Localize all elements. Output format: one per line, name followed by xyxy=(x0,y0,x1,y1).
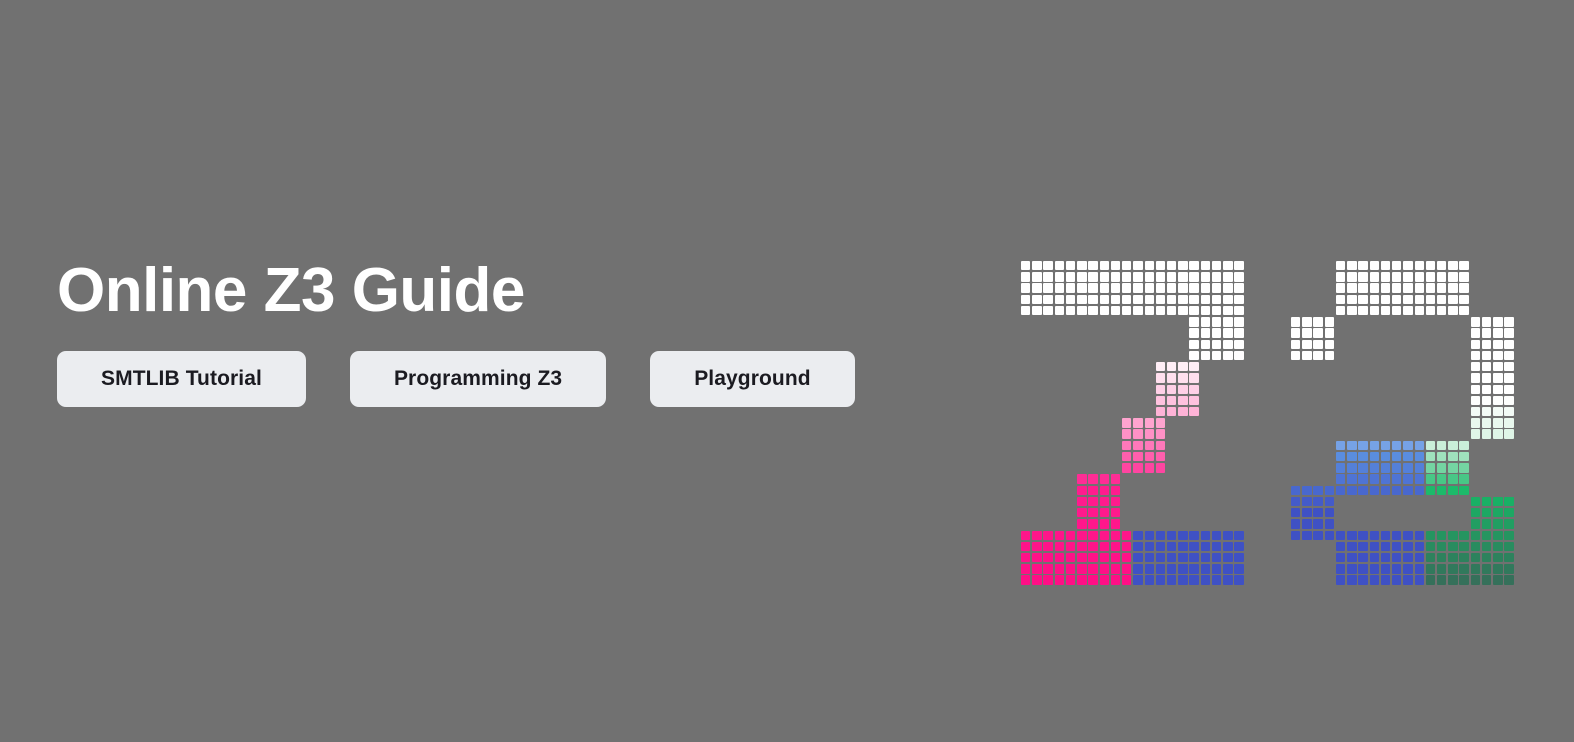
logo-pixel xyxy=(1234,328,1243,337)
logo-pixel xyxy=(1302,531,1311,540)
logo-pixel xyxy=(1504,553,1513,562)
logo-pixel xyxy=(1100,531,1109,540)
logo-pixel xyxy=(1325,317,1334,326)
logo-pixel xyxy=(1347,283,1356,292)
logo-pixel xyxy=(1212,283,1221,292)
logo-pixel xyxy=(1189,317,1198,326)
logo-pixel xyxy=(1234,553,1243,562)
logo-pixel xyxy=(1201,295,1210,304)
logo-pixel xyxy=(1325,531,1334,540)
logo-pixel xyxy=(1347,486,1356,495)
hero-section: Online Z3 Guide SMTLIB TutorialProgrammi… xyxy=(0,0,1574,742)
logo-pixel xyxy=(1178,575,1187,584)
logo-pixel xyxy=(1043,564,1052,573)
logo-pixel xyxy=(1021,295,1030,304)
logo-pixel xyxy=(1392,452,1401,461)
logo-pixel xyxy=(1133,272,1142,281)
logo-pixel xyxy=(1133,564,1142,573)
logo-pixel xyxy=(1426,306,1435,315)
logo-pixel xyxy=(1100,261,1109,270)
programming-z3-button[interactable]: Programming Z3 xyxy=(350,351,606,407)
logo-pixel xyxy=(1234,283,1243,292)
logo-pixel xyxy=(1471,340,1480,349)
logo-pixel xyxy=(1482,317,1491,326)
logo-pixel xyxy=(1111,519,1120,528)
logo-pixel xyxy=(1493,519,1502,528)
logo-pixel xyxy=(1504,519,1513,528)
logo-pixel xyxy=(1178,396,1187,405)
logo-pixel xyxy=(1021,261,1030,270)
logo-pixel xyxy=(1100,497,1109,506)
logo-pixel xyxy=(1122,261,1131,270)
logo-pixel xyxy=(1156,261,1165,270)
logo-pixel xyxy=(1471,564,1480,573)
logo-pixel xyxy=(1167,385,1176,394)
logo-pixel xyxy=(1167,261,1176,270)
logo-pixel xyxy=(1234,564,1243,573)
logo-pixel xyxy=(1291,531,1300,540)
logo-pixel xyxy=(1066,542,1075,551)
logo-pixel xyxy=(1088,272,1097,281)
logo-pixel xyxy=(1223,295,1232,304)
logo-pixel xyxy=(1313,351,1322,360)
logo-pixel xyxy=(1156,385,1165,394)
logo-pixel xyxy=(1189,564,1198,573)
logo-pixel xyxy=(1291,340,1300,349)
logo-pixel xyxy=(1223,553,1232,562)
logo-pixel xyxy=(1122,564,1131,573)
logo-pixel xyxy=(1178,385,1187,394)
logo-pixel xyxy=(1403,272,1412,281)
logo-pixel xyxy=(1111,497,1120,506)
logo-pixel xyxy=(1358,531,1367,540)
logo-pixel xyxy=(1055,306,1064,315)
logo-pixel xyxy=(1100,306,1109,315)
logo-pixel xyxy=(1482,418,1491,427)
logo-pixel xyxy=(1336,531,1345,540)
logo-pixel xyxy=(1055,272,1064,281)
logo-pixel xyxy=(1066,553,1075,562)
logo-pixel xyxy=(1156,272,1165,281)
logo-pixel xyxy=(1100,486,1109,495)
logo-pixel xyxy=(1381,486,1390,495)
logo-pixel xyxy=(1347,306,1356,315)
logo-pixel xyxy=(1156,553,1165,562)
logo-pixel xyxy=(1426,474,1435,483)
logo-pixel xyxy=(1066,531,1075,540)
logo-pixel xyxy=(1111,283,1120,292)
logo-pixel xyxy=(1370,272,1379,281)
logo-pixel xyxy=(1471,497,1480,506)
logo-pixel xyxy=(1370,283,1379,292)
logo-pixel xyxy=(1358,575,1367,584)
logo-pixel xyxy=(1302,340,1311,349)
logo-pixel xyxy=(1437,542,1446,551)
logo-pixel xyxy=(1493,418,1502,427)
logo-pixel xyxy=(1145,564,1154,573)
logo-pixel xyxy=(1504,575,1513,584)
logo-pixel xyxy=(1426,564,1435,573)
logo-pixel xyxy=(1504,564,1513,573)
logo-pixel xyxy=(1403,474,1412,483)
logo-pixel xyxy=(1133,418,1142,427)
logo-pixel xyxy=(1471,575,1480,584)
logo-pixel xyxy=(1201,317,1210,326)
logo-pixel xyxy=(1471,418,1480,427)
logo-pixel xyxy=(1471,373,1480,382)
logo-pixel xyxy=(1426,542,1435,551)
logo-pixel xyxy=(1167,362,1176,371)
logo-pixel xyxy=(1212,531,1221,540)
logo-pixel xyxy=(1403,486,1412,495)
logo-pixel xyxy=(1437,575,1446,584)
logo-pixel xyxy=(1167,306,1176,315)
logo-pixel xyxy=(1437,452,1446,461)
logo-pixel xyxy=(1381,531,1390,540)
logo-pixel xyxy=(1133,295,1142,304)
logo-pixel xyxy=(1111,553,1120,562)
logo-pixel xyxy=(1122,418,1131,427)
logo-pixel xyxy=(1077,486,1086,495)
logo-pixel xyxy=(1111,486,1120,495)
logo-pixel xyxy=(1415,452,1424,461)
logo-pixel xyxy=(1145,272,1154,281)
logo-pixel xyxy=(1088,295,1097,304)
logo-pixel xyxy=(1415,272,1424,281)
logo-pixel xyxy=(1493,508,1502,517)
logo-pixel xyxy=(1212,575,1221,584)
logo-pixel xyxy=(1437,295,1446,304)
logo-pixel xyxy=(1370,486,1379,495)
logo-pixel xyxy=(1370,452,1379,461)
logo-pixel xyxy=(1212,272,1221,281)
logo-pixel xyxy=(1088,306,1097,315)
logo-pixel xyxy=(1313,497,1322,506)
logo-pixel xyxy=(1167,575,1176,584)
logo-pixel xyxy=(1504,362,1513,371)
logo-pixel xyxy=(1459,441,1468,450)
logo-pixel xyxy=(1448,553,1457,562)
logo-pixel xyxy=(1201,261,1210,270)
logo-pixel xyxy=(1055,295,1064,304)
logo-pixel xyxy=(1381,261,1390,270)
logo-pixel xyxy=(1336,564,1345,573)
logo-pixel xyxy=(1178,553,1187,562)
logo-pixel xyxy=(1504,328,1513,337)
logo-pixel xyxy=(1381,306,1390,315)
logo-pixel xyxy=(1145,452,1154,461)
logo-pixel xyxy=(1043,283,1052,292)
logo-pixel xyxy=(1370,564,1379,573)
logo-pixel xyxy=(1066,575,1075,584)
logo-pixel xyxy=(1111,575,1120,584)
logo-pixel xyxy=(1336,542,1345,551)
logo-pixel xyxy=(1448,575,1457,584)
logo-pixel xyxy=(1189,340,1198,349)
logo-pixel xyxy=(1077,306,1086,315)
logo-pixel xyxy=(1392,272,1401,281)
logo-pixel xyxy=(1111,564,1120,573)
logo-pixel xyxy=(1201,283,1210,292)
logo-pixel xyxy=(1358,306,1367,315)
logo-pixel xyxy=(1100,542,1109,551)
logo-pixel xyxy=(1448,531,1457,540)
logo-pixel xyxy=(1223,340,1232,349)
logo-pixel xyxy=(1504,340,1513,349)
logo-pixel xyxy=(1043,261,1052,270)
logo-pixel xyxy=(1336,295,1345,304)
logo-pixel xyxy=(1459,261,1468,270)
logo-pixel xyxy=(1381,272,1390,281)
logo-pixel xyxy=(1223,531,1232,540)
logo-pixel xyxy=(1122,306,1131,315)
logo-pixel xyxy=(1077,508,1086,517)
logo-pixel xyxy=(1066,261,1075,270)
logo-pixel xyxy=(1212,564,1221,573)
logo-pixel xyxy=(1459,306,1468,315)
logo-pixel xyxy=(1088,474,1097,483)
logo-pixel xyxy=(1325,340,1334,349)
logo-pixel xyxy=(1415,564,1424,573)
logo-pixel xyxy=(1370,441,1379,450)
logo-pixel xyxy=(1482,362,1491,371)
logo-pixel xyxy=(1145,463,1154,472)
logo-pixel xyxy=(1347,564,1356,573)
logo-pixel xyxy=(1100,564,1109,573)
logo-pixel xyxy=(1381,452,1390,461)
logo-pixel xyxy=(1088,261,1097,270)
logo-pixel xyxy=(1459,283,1468,292)
logo-pixel xyxy=(1426,441,1435,450)
logo-pixel xyxy=(1403,283,1412,292)
logo-pixel xyxy=(1482,575,1491,584)
logo-pixel xyxy=(1133,463,1142,472)
logo-pixel xyxy=(1189,295,1198,304)
logo-pixel xyxy=(1122,553,1131,562)
logo-pixel xyxy=(1122,441,1131,450)
logo-pixel xyxy=(1145,531,1154,540)
logo-pixel xyxy=(1358,486,1367,495)
logo-pixel xyxy=(1032,306,1041,315)
logo-pixel xyxy=(1437,283,1446,292)
logo-pixel xyxy=(1133,452,1142,461)
logo-pixel xyxy=(1055,564,1064,573)
logo-pixel xyxy=(1088,553,1097,562)
logo-pixel xyxy=(1291,351,1300,360)
logo-pixel xyxy=(1156,564,1165,573)
hero-actions: SMTLIB TutorialProgramming Z3Playground xyxy=(57,351,957,407)
logo-pixel xyxy=(1381,441,1390,450)
logo-pixel xyxy=(1189,373,1198,382)
logo-pixel xyxy=(1437,272,1446,281)
logo-pixel xyxy=(1415,474,1424,483)
logo-pixel xyxy=(1392,283,1401,292)
logo-pixel xyxy=(1347,463,1356,472)
logo-pixel xyxy=(1077,283,1086,292)
logo-pixel xyxy=(1032,575,1041,584)
logo-pixel xyxy=(1504,317,1513,326)
logo-pixel xyxy=(1100,575,1109,584)
logo-pixel xyxy=(1358,542,1367,551)
logo-pixel xyxy=(1482,340,1491,349)
logo-pixel xyxy=(1448,441,1457,450)
logo-pixel xyxy=(1043,553,1052,562)
logo-pixel xyxy=(1021,564,1030,573)
logo-pixel xyxy=(1504,351,1513,360)
logo-pixel xyxy=(1482,564,1491,573)
logo-pixel xyxy=(1426,283,1435,292)
logo-pixel xyxy=(1358,441,1367,450)
logo-pixel xyxy=(1201,564,1210,573)
logo-pixel xyxy=(1471,542,1480,551)
logo-pixel xyxy=(1415,553,1424,562)
logo-pixel xyxy=(1347,553,1356,562)
logo-pixel xyxy=(1133,553,1142,562)
logo-pixel xyxy=(1088,519,1097,528)
logo-pixel xyxy=(1167,564,1176,573)
logo-pixel xyxy=(1437,564,1446,573)
logo-pixel xyxy=(1167,396,1176,405)
logo-pixel xyxy=(1122,452,1131,461)
logo-pixel xyxy=(1066,564,1075,573)
logo-pixel xyxy=(1077,272,1086,281)
logo-pixel xyxy=(1482,497,1491,506)
logo-pixel xyxy=(1471,351,1480,360)
logo-pixel xyxy=(1201,328,1210,337)
logo-pixel xyxy=(1133,306,1142,315)
logo-pixel xyxy=(1021,575,1030,584)
logo-pixel xyxy=(1471,385,1480,394)
logo-pixel xyxy=(1077,531,1086,540)
logo-pixel xyxy=(1234,317,1243,326)
logo-pixel xyxy=(1302,519,1311,528)
logo-pixel xyxy=(1358,553,1367,562)
logo-pixel xyxy=(1493,407,1502,416)
logo-pixel xyxy=(1043,272,1052,281)
logo-pixel xyxy=(1403,261,1412,270)
logo-pixel xyxy=(1212,261,1221,270)
logo-pixel xyxy=(1347,542,1356,551)
logo-pixel xyxy=(1178,373,1187,382)
logo-pixel xyxy=(1145,418,1154,427)
logo-pixel xyxy=(1426,452,1435,461)
logo-pixel xyxy=(1403,542,1412,551)
logo-pixel xyxy=(1504,396,1513,405)
logo-pixel xyxy=(1437,486,1446,495)
logo-pixel xyxy=(1302,497,1311,506)
logo-pixel xyxy=(1336,452,1345,461)
logo-pixel xyxy=(1482,542,1491,551)
logo-pixel xyxy=(1032,542,1041,551)
logo-pixel xyxy=(1021,531,1030,540)
logo-pixel xyxy=(1403,463,1412,472)
logo-pixel xyxy=(1347,441,1356,450)
logo-pixel xyxy=(1459,575,1468,584)
logo-pixel xyxy=(1392,564,1401,573)
logo-pixel xyxy=(1381,463,1390,472)
logo-pixel xyxy=(1313,519,1322,528)
logo-pixel xyxy=(1437,463,1446,472)
logo-pixel xyxy=(1504,385,1513,394)
logo-pixel xyxy=(1189,362,1198,371)
logo-pixel xyxy=(1021,272,1030,281)
logo-pixel xyxy=(1178,542,1187,551)
logo-pixel xyxy=(1156,418,1165,427)
logo-pixel xyxy=(1043,542,1052,551)
logo-pixel xyxy=(1325,519,1334,528)
logo-pixel xyxy=(1189,306,1198,315)
logo-pixel xyxy=(1403,553,1412,562)
logo-pixel xyxy=(1358,272,1367,281)
logo-pixel xyxy=(1504,508,1513,517)
logo-pixel xyxy=(1234,340,1243,349)
logo-pixel xyxy=(1223,306,1232,315)
logo-pixel xyxy=(1459,486,1468,495)
logo-pixel xyxy=(1223,328,1232,337)
logo-pixel xyxy=(1381,575,1390,584)
logo-pixel xyxy=(1145,575,1154,584)
logo-pixel xyxy=(1111,295,1120,304)
logo-pixel xyxy=(1482,519,1491,528)
logo-pixel xyxy=(1234,531,1243,540)
logo-pixel xyxy=(1448,474,1457,483)
logo-pixel xyxy=(1032,283,1041,292)
logo-pixel xyxy=(1234,261,1243,270)
logo-pixel xyxy=(1347,474,1356,483)
logo-pixel xyxy=(1021,553,1030,562)
logo-pixel xyxy=(1189,351,1198,360)
logo-pixel xyxy=(1212,328,1221,337)
logo-pixel xyxy=(1189,542,1198,551)
logo-pixel xyxy=(1145,295,1154,304)
logo-pixel xyxy=(1471,328,1480,337)
logo-pixel xyxy=(1111,531,1120,540)
logo-pixel xyxy=(1201,340,1210,349)
logo-pixel xyxy=(1392,553,1401,562)
logo-pixel xyxy=(1122,542,1131,551)
logo-pixel xyxy=(1392,295,1401,304)
logo-pixel xyxy=(1122,429,1131,438)
logo-pixel xyxy=(1336,283,1345,292)
logo-pixel xyxy=(1392,542,1401,551)
logo-pixel xyxy=(1381,553,1390,562)
logo-pixel xyxy=(1133,441,1142,450)
logo-pixel xyxy=(1111,474,1120,483)
logo-pixel xyxy=(1156,429,1165,438)
logo-pixel xyxy=(1415,575,1424,584)
logo-pixel xyxy=(1392,486,1401,495)
logo-pixel xyxy=(1189,575,1198,584)
logo-pixel xyxy=(1403,441,1412,450)
logo-pixel xyxy=(1055,575,1064,584)
logo-pixel xyxy=(1504,373,1513,382)
logo-pixel xyxy=(1403,531,1412,540)
logo-pixel xyxy=(1325,351,1334,360)
logo-pixel xyxy=(1347,452,1356,461)
logo-pixel xyxy=(1471,362,1480,371)
smtlib-tutorial-button[interactable]: SMTLIB Tutorial xyxy=(57,351,306,407)
logo-pixel xyxy=(1381,542,1390,551)
logo-pixel xyxy=(1122,575,1131,584)
logo-pixel xyxy=(1448,272,1457,281)
logo-pixel xyxy=(1201,272,1210,281)
logo-pixel xyxy=(1302,508,1311,517)
logo-pixel xyxy=(1493,396,1502,405)
logo-pixel xyxy=(1223,351,1232,360)
logo-pixel xyxy=(1336,575,1345,584)
logo-pixel xyxy=(1415,542,1424,551)
playground-button[interactable]: Playground xyxy=(650,351,855,407)
